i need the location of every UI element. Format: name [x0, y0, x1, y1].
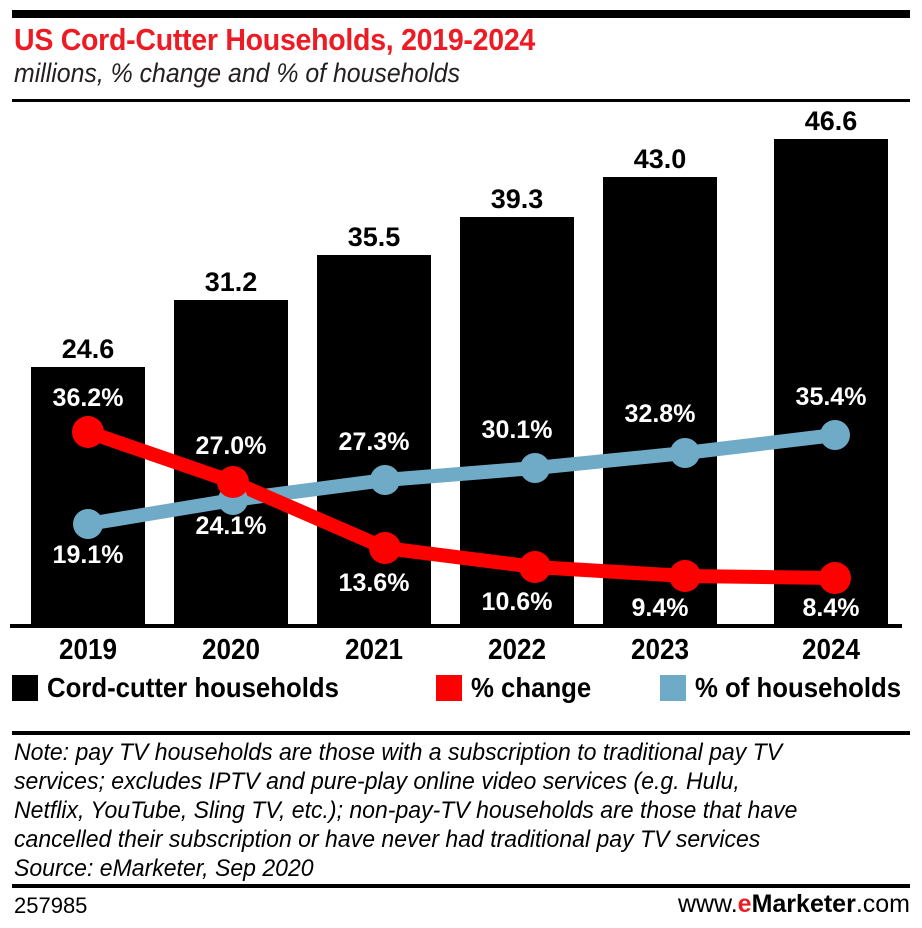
bar-value-label-2019: 24.6 — [31, 334, 145, 365]
note-divider-rule — [12, 731, 910, 735]
bar-value-label-2021: 35.5 — [317, 222, 431, 253]
legend-label-cord-cutter-households: Cord-cutter households — [47, 672, 339, 704]
brand-e: e — [738, 890, 752, 918]
legend-swatch-blue-icon — [660, 675, 686, 701]
pct-households-label-2022: 30.1% — [460, 416, 574, 445]
chart-legend: Cord-cutter households % change % of hou… — [12, 672, 910, 712]
pct-change-label-2022: 10.6% — [460, 588, 574, 617]
pct-households-label-2021: 27.3% — [317, 428, 431, 457]
note-line-3: Netflix, YouTube, Sling TV, etc.); non-p… — [14, 796, 854, 825]
bar-2020 — [174, 300, 288, 624]
bar-value-label-2022: 39.3 — [460, 184, 574, 215]
legend-item-pct-change: % change — [436, 672, 602, 704]
x-axis-line — [10, 624, 902, 628]
pct-change-label-2024: 8.4% — [774, 594, 888, 623]
legend-label-pct-of-households: % of households — [695, 672, 901, 704]
brand-name: Marketer — [752, 890, 856, 918]
x-tick-2019: 2019 — [37, 634, 140, 667]
bar-value-label-2024: 46.6 — [774, 106, 888, 137]
emarketer-chart-page: US Cord-Cutter Households, 2019-2024 mil… — [0, 0, 922, 928]
pct-change-label-2019: 36.2% — [31, 384, 145, 413]
pct-households-label-2024: 35.4% — [774, 383, 888, 412]
legend-swatch-black-icon — [12, 675, 38, 701]
pct-change-label-2023: 9.4% — [603, 594, 717, 623]
chart-note: Note: pay TV households are those with a… — [14, 738, 854, 883]
x-tick-2024: 2024 — [780, 634, 883, 667]
pct-households-label-2019: 19.1% — [31, 541, 145, 570]
note-source-line: Source: eMarketer, Sep 2020 — [14, 854, 854, 883]
note-line-2: services; excludes IPTV and pure-play on… — [14, 767, 854, 796]
x-tick-2021: 2021 — [323, 634, 426, 667]
x-tick-2022: 2022 — [466, 634, 569, 667]
note-line-4: cancelled their subscription or have nev… — [14, 825, 854, 854]
brand-prefix: www. — [678, 890, 738, 918]
pct-change-label-2021: 13.6% — [317, 569, 431, 598]
x-tick-2020: 2020 — [180, 634, 283, 667]
pct-households-label-2023: 32.8% — [603, 400, 717, 429]
legend-label-pct-change: % change — [471, 672, 591, 704]
note-line-1: Note: pay TV households are those with a… — [14, 738, 854, 767]
chart-plot-area: 24.6 31.2 35.5 39.3 43.0 46.6 36.2% 27.0… — [0, 0, 922, 700]
legend-swatch-red-icon — [436, 675, 462, 701]
chart-id: 257985 — [14, 893, 87, 919]
bar-2024 — [774, 139, 888, 624]
legend-item-pct-of-households: % of households — [660, 672, 919, 704]
pct-change-label-2020: 27.0% — [174, 432, 288, 461]
x-tick-2023: 2023 — [609, 634, 712, 667]
emarketer-brand: www.eMarketer.com — [678, 890, 910, 919]
bar-value-label-2023: 43.0 — [603, 144, 717, 175]
brand-suffix: .com — [856, 890, 910, 918]
pct-households-label-2020: 24.1% — [174, 512, 288, 541]
bar-value-label-2020: 31.2 — [174, 267, 288, 298]
footer-divider-rule — [12, 884, 910, 888]
legend-item-cord-cutter-households: Cord-cutter households — [12, 672, 364, 704]
